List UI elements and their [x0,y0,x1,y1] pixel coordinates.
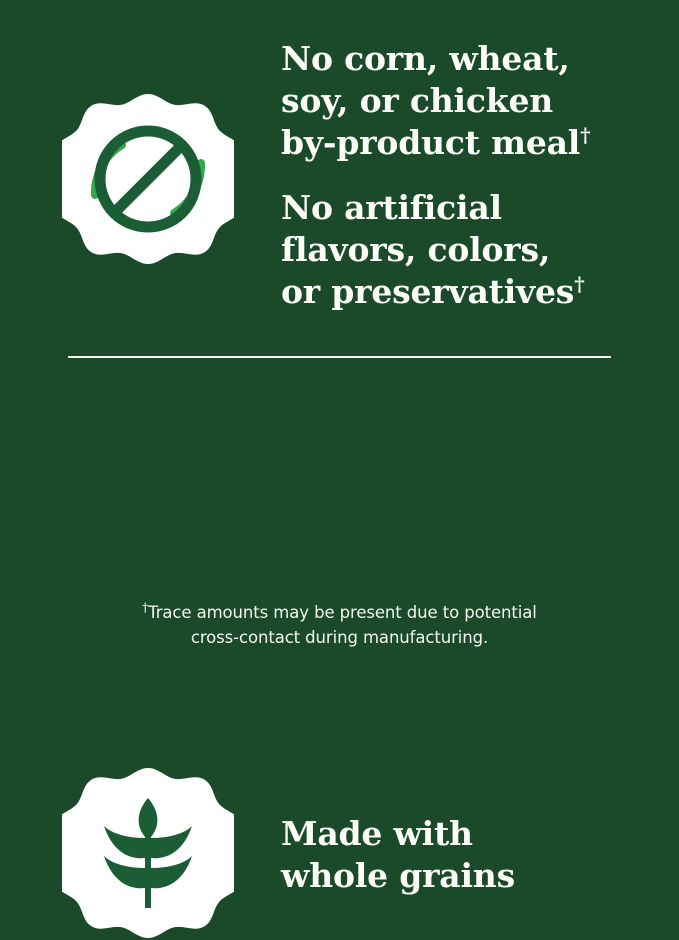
footnote-text: Trace amounts may be present due to pote… [148,603,537,622]
claim-made-with-whole-grains: Made with whole grains [281,813,671,897]
claim-line: soy, or chicken [281,81,553,120]
claim-no-corn-wheat-soy: No corn, wheat, soy, or chicken by-produ… [281,38,671,165]
claim-no-artificial-additives: No artificial flavors, colors, or preser… [281,187,671,314]
claim-line: Made with [281,814,473,853]
claim-line: by-product meal [281,123,580,162]
product-claims-panel: No corn, wheat, soy, or chicken by-produ… [0,0,679,679]
whole-grains-claim-text: Made with whole grains [281,813,671,897]
claim-line: No corn, wheat, [281,39,570,78]
grain-leaf-badge-icon [62,766,234,940]
prohibition-badge-icon [62,92,234,266]
whole-grains-claim-row: Made with whole grains [0,370,679,580]
claim-line: flavors, colors, [281,230,550,269]
footnote-marker: † [574,272,584,296]
section-divider [68,356,611,358]
footnote-line-2: cross-contact during manufacturing. [0,625,679,650]
footnote-disclaimer: †Trace amounts may be present due to pot… [0,600,679,650]
footnote-line-1: †Trace amounts may be present due to pot… [0,600,679,625]
claim-line: No artificial [281,188,502,227]
footnote-marker: † [580,123,590,147]
claim-line: whole grains [281,856,515,895]
claim-line: or preservatives [281,272,574,311]
no-ingredients-claims-text: No corn, wheat, soy, or chicken by-produ… [281,38,671,313]
no-ingredients-claim-row: No corn, wheat, soy, or chicken by-produ… [0,0,679,340]
